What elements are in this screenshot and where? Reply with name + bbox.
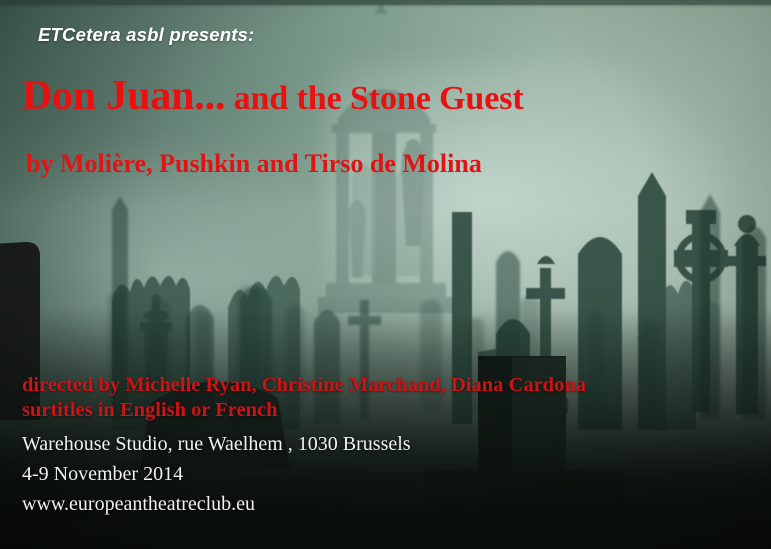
info-block: Warehouse Studio, rue Waelhem , 1030 Bru…	[22, 429, 411, 519]
credit-line-surtitles: surtitles in English or French	[22, 398, 586, 423]
title-rest-part: and the Stone Guest	[225, 80, 523, 117]
credits-block: directed by Michelle Ryan, Christine Mar…	[22, 373, 586, 423]
top-edge-strip	[0, 0, 771, 5]
presenter-line: ETCetera asbl presents:	[38, 24, 254, 46]
dates-line: 4-9 November 2014	[22, 459, 411, 489]
website-line[interactable]: www.europeantheatreclub.eu	[22, 489, 411, 519]
credit-line-directors: directed by Michelle Ryan, Christine Mar…	[22, 373, 586, 398]
theatre-poster: ETCetera asbl presents: Don Juan... and …	[0, 0, 771, 549]
title-main-part: Don Juan...	[22, 73, 225, 119]
venue-line: Warehouse Studio, rue Waelhem , 1030 Bru…	[22, 429, 411, 459]
poster-title: Don Juan... and the Stone Guest	[22, 75, 524, 117]
authors-line: by Molière, Pushkin and Tirso de Molina	[26, 149, 482, 179]
